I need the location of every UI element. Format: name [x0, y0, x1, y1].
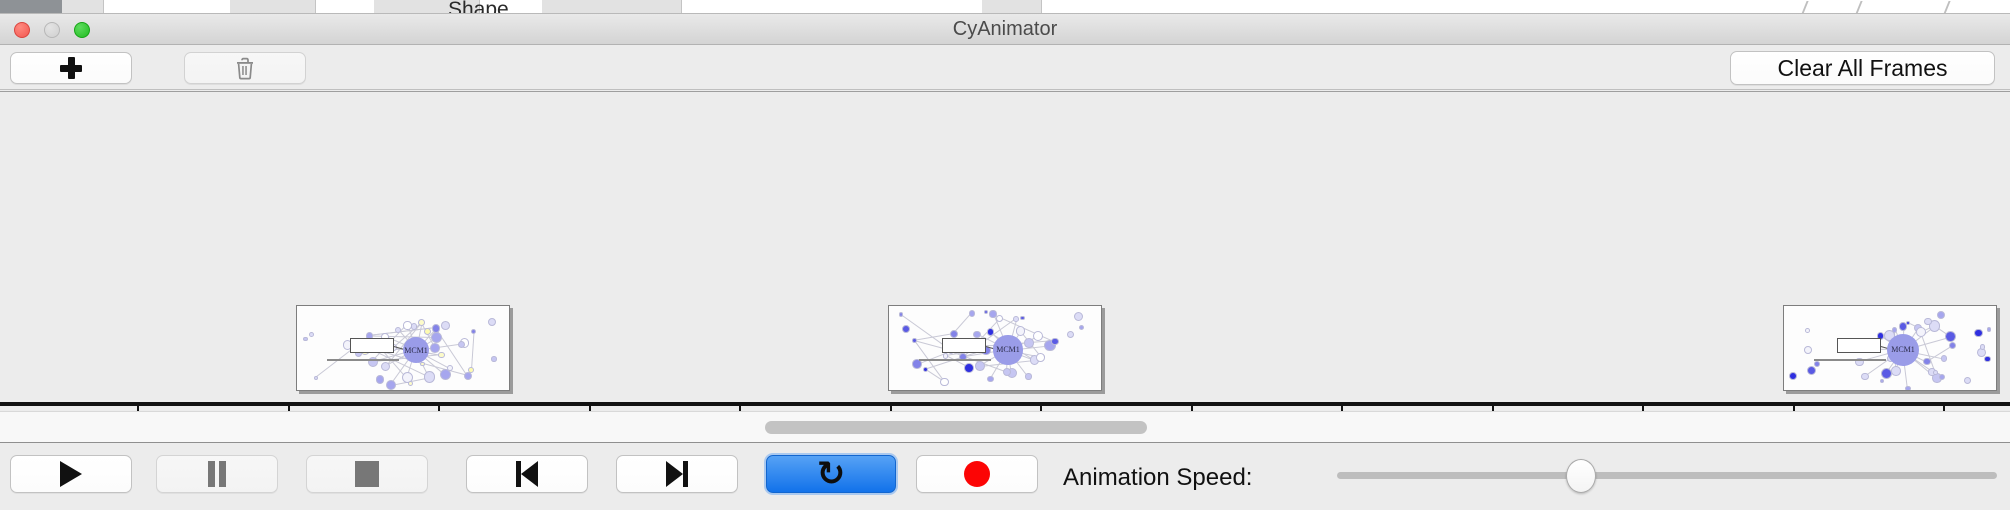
graph-node	[1020, 316, 1024, 320]
graph-node	[1905, 386, 1910, 391]
graph-node	[1789, 372, 1797, 380]
graph-node	[1807, 366, 1816, 375]
graph-node	[987, 376, 993, 382]
play-button[interactable]	[10, 455, 132, 493]
graph-node	[975, 361, 985, 371]
graph-node	[1937, 311, 1945, 319]
animation-speed-slider[interactable]	[1337, 472, 1997, 479]
graph-annotation-box	[942, 338, 986, 353]
graph-node	[408, 381, 413, 386]
graph-node	[969, 310, 975, 316]
graph-node	[1880, 379, 1884, 383]
graph-caption-line	[1814, 359, 1886, 361]
graph-node	[1945, 331, 1956, 342]
delete-frame-button[interactable]	[184, 52, 306, 84]
graph-node	[1906, 321, 1910, 325]
timeline-axis	[0, 402, 2010, 406]
graph-node	[987, 328, 994, 335]
clear-all-frames-button[interactable]: Clear All Frames	[1730, 51, 1995, 85]
scrollbar-thumb[interactable]	[765, 421, 1147, 434]
graph-node	[386, 380, 396, 390]
graph-node	[431, 332, 442, 343]
graph-node	[381, 362, 390, 371]
graph-node	[1939, 374, 1945, 380]
animation-speed-slider-thumb[interactable]	[1566, 459, 1596, 493]
graph-node	[1861, 373, 1868, 380]
graph-node	[441, 321, 450, 330]
cyanimator-window: Shape CyAnimator	[0, 0, 2010, 510]
graph-node	[309, 332, 314, 337]
graph-node	[1916, 327, 1926, 337]
graph-node	[1891, 366, 1901, 376]
graph-hub-node: MCM1	[993, 335, 1022, 364]
graph-node	[376, 375, 385, 384]
network-graph-thumbnail: MCM1	[889, 306, 1102, 391]
graph-node	[1949, 342, 1956, 349]
skip-end-button[interactable]	[616, 455, 738, 493]
frame-thumbnail-2[interactable]: MCM1	[888, 305, 1102, 391]
animation-speed-label: Animation Speed:	[1063, 464, 1252, 492]
graph-caption-line	[919, 359, 991, 361]
graph-node	[411, 323, 417, 329]
graph-node	[471, 329, 476, 334]
stop-icon	[355, 461, 379, 487]
graph-node	[1805, 328, 1810, 333]
graph-node	[1074, 312, 1083, 321]
graph-node	[1933, 370, 1938, 375]
graph-annotation-box	[1837, 338, 1881, 353]
record-button[interactable]	[916, 455, 1038, 493]
graph-node	[488, 318, 497, 327]
background-window-strip: Shape	[0, 0, 2010, 14]
graph-node	[1923, 358, 1931, 366]
graph-node	[395, 327, 401, 333]
graph-node	[950, 330, 958, 338]
graph-node	[1033, 331, 1043, 341]
graph-node	[418, 319, 425, 326]
graph-node	[1024, 338, 1034, 348]
graph-node	[996, 315, 1003, 322]
graph-node	[1814, 361, 1820, 367]
toolbar: Clear All Frames	[0, 45, 2010, 90]
plus-icon	[60, 57, 82, 79]
graph-node	[1987, 327, 1991, 331]
loop-icon: ↻	[817, 457, 846, 491]
graph-hub-node: MCM1	[403, 337, 429, 363]
graph-node	[440, 369, 451, 380]
record-icon	[964, 461, 990, 487]
graph-caption-line	[327, 359, 399, 361]
titlebar: CyAnimator	[0, 14, 2010, 45]
graph-node	[1974, 329, 1982, 337]
pause-icon	[207, 461, 227, 487]
graph-node	[468, 367, 474, 373]
graph-node	[1025, 373, 1031, 379]
graph-node	[438, 352, 444, 358]
graph-node	[1964, 377, 1971, 384]
graph-node	[1941, 355, 1948, 362]
frame-thumbnail-1[interactable]: MCM1	[296, 305, 510, 391]
window-title: CyAnimator	[0, 14, 2010, 45]
graph-node	[1051, 338, 1059, 346]
graph-annotation-box	[350, 338, 394, 353]
network-graph-thumbnail: MCM1	[1784, 306, 1997, 391]
skip-start-icon	[516, 461, 538, 487]
stop-button[interactable]	[306, 455, 428, 493]
graph-node	[1079, 325, 1084, 330]
graph-node	[1980, 344, 1986, 350]
play-icon	[60, 461, 82, 487]
timeline-panel[interactable]: MCM1MCM1MCM1 2131415161718 Seconds	[0, 91, 2010, 411]
skip-start-button[interactable]	[466, 455, 588, 493]
graph-node	[314, 376, 318, 380]
frame-thumbnail-3[interactable]: MCM1	[1783, 305, 1997, 391]
graph-edge	[471, 332, 475, 370]
graph-node	[1036, 353, 1045, 362]
graph-node	[1881, 368, 1892, 379]
loop-button[interactable]: ↻	[766, 455, 896, 493]
graph-node	[424, 371, 436, 383]
graph-node	[458, 341, 465, 348]
graph-node	[984, 310, 988, 314]
add-frame-button[interactable]	[10, 52, 132, 84]
graph-node	[1804, 346, 1812, 354]
graph-node	[303, 337, 308, 342]
skip-end-icon	[666, 461, 688, 487]
graph-node	[491, 356, 497, 362]
timeline-scrollbar[interactable]	[0, 411, 2010, 443]
transport-bar: ↻ Animation Speed:	[0, 444, 2010, 510]
background-window-label: Shape	[448, 0, 509, 14]
graph-node	[1924, 318, 1932, 326]
graph-node	[964, 363, 974, 373]
graph-node	[1984, 356, 1991, 363]
network-graph-thumbnail: MCM1	[297, 306, 510, 391]
graph-node	[940, 378, 949, 387]
graph-node	[464, 372, 472, 380]
graph-node	[1013, 316, 1019, 322]
graph-node	[1067, 331, 1074, 338]
graph-node	[1016, 326, 1025, 335]
trash-icon	[234, 56, 256, 80]
graph-node	[902, 325, 910, 333]
graph-node	[912, 338, 916, 342]
pause-button[interactable]	[156, 455, 278, 493]
